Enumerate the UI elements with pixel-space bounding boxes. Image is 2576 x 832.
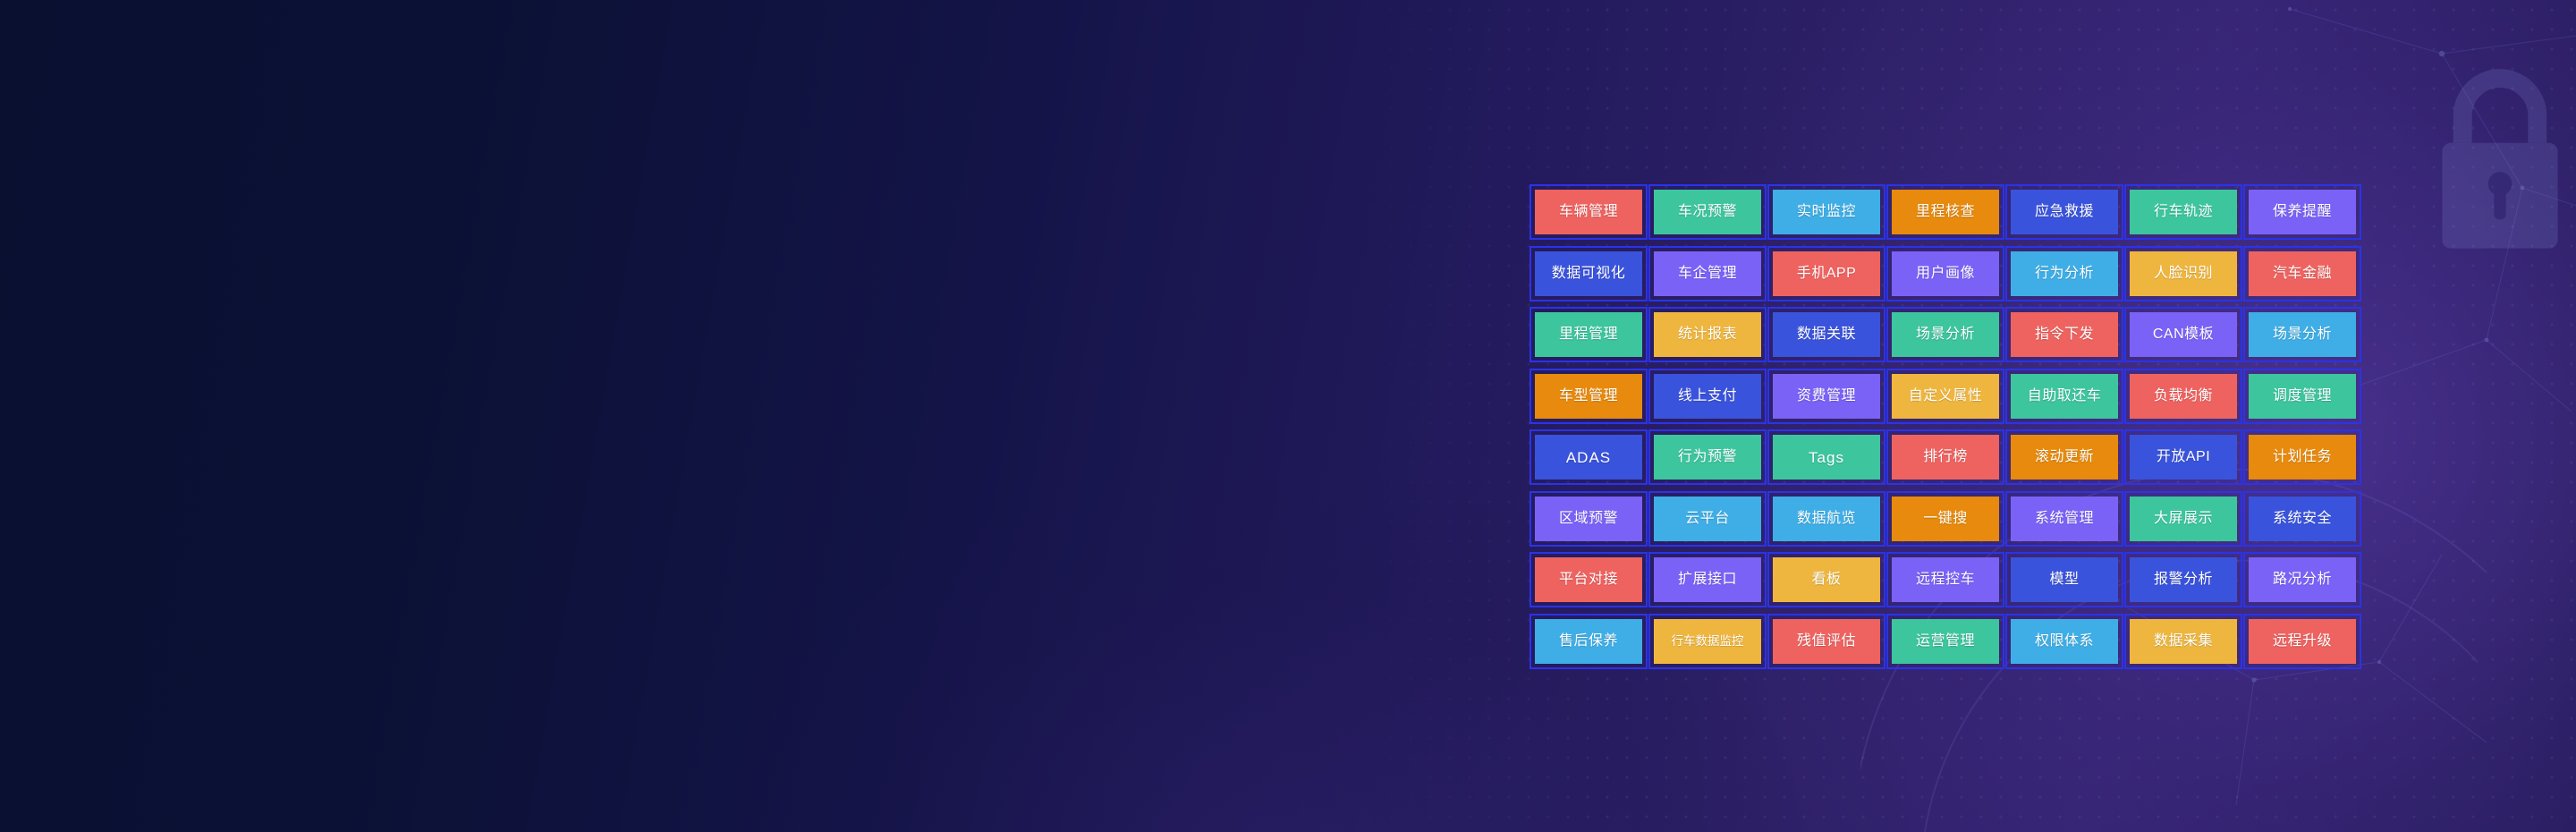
tile-43[interactable]: 平台对接 xyxy=(1535,557,1642,602)
tile-label: 里程核查 xyxy=(1916,205,1975,219)
tile-label: 车型管理 xyxy=(1559,389,1618,403)
tile-label: 人脸识别 xyxy=(2154,267,2213,281)
tile-22[interactable]: 车型管理 xyxy=(1535,374,1642,419)
tile-55[interactable]: 数据采集 xyxy=(2130,619,2237,664)
tile-10[interactable]: 手机APP xyxy=(1773,251,1880,296)
tile-1[interactable]: 车辆管理 xyxy=(1535,190,1642,234)
tile-14[interactable]: 汽车金融 xyxy=(2249,251,2356,296)
tile-11[interactable]: 用户画像 xyxy=(1892,251,1999,296)
tile-label: 手机APP xyxy=(1797,267,1857,281)
tile-7[interactable]: 保养提醒 xyxy=(2249,190,2356,234)
tile-17[interactable]: 数据关联 xyxy=(1773,312,1880,357)
tile-23[interactable]: 线上支付 xyxy=(1654,374,1761,419)
tile-label: 指令下发 xyxy=(2035,327,2094,342)
tile-47[interactable]: 模型 xyxy=(2011,557,2118,602)
tile-33[interactable]: 滚动更新 xyxy=(2011,435,2118,480)
tile-label: 数据采集 xyxy=(2154,634,2213,649)
tile-label: 自助取还车 xyxy=(2028,389,2102,403)
tile-36[interactable]: 区域预警 xyxy=(1535,497,1642,541)
tile-label: 自定义属性 xyxy=(1909,389,1983,403)
tile-label: 车辆管理 xyxy=(1559,205,1618,219)
tile-label: 售后保养 xyxy=(1559,634,1618,649)
tile-52[interactable]: 残值评估 xyxy=(1773,619,1880,664)
feature-tile-grid: 车辆管理车况预警实时监控里程核查应急救援行车轨迹保养提醒数据可视化车企管理手机A… xyxy=(1535,190,2356,664)
tile-label: 行为分析 xyxy=(2035,267,2094,281)
tile-12[interactable]: 行为分析 xyxy=(2011,251,2118,296)
tile-label: 车况预警 xyxy=(1678,205,1737,219)
tile-21[interactable]: 场景分析 xyxy=(2249,312,2356,357)
tile-label: 行车轨迹 xyxy=(2154,205,2213,219)
tile-40[interactable]: 系统管理 xyxy=(2011,497,2118,541)
tile-label: 开放API xyxy=(2157,450,2210,464)
tile-label: 数据关联 xyxy=(1797,327,1856,342)
tile-label: ADAS xyxy=(1566,450,1611,465)
tile-label: 计划任务 xyxy=(2273,450,2332,464)
tile-label: 远程升级 xyxy=(2273,634,2332,649)
tile-56[interactable]: 远程升级 xyxy=(2249,619,2356,664)
tile-51[interactable]: 行车数据监控 xyxy=(1654,619,1761,664)
tile-label: 场景分析 xyxy=(1916,327,1975,342)
tile-44[interactable]: 扩展接口 xyxy=(1654,557,1761,602)
tile-label: 汽车金融 xyxy=(2273,267,2332,281)
tile-38[interactable]: 数据航览 xyxy=(1773,497,1880,541)
tile-label: Tags xyxy=(1809,450,1844,465)
tile-20[interactable]: CAN模板 xyxy=(2130,312,2237,357)
tile-54[interactable]: 权限体系 xyxy=(2011,619,2118,664)
tile-45[interactable]: 看板 xyxy=(1773,557,1880,602)
tile-19[interactable]: 指令下发 xyxy=(2011,312,2118,357)
tile-label: 负载均衡 xyxy=(2154,389,2213,403)
tile-15[interactable]: 里程管理 xyxy=(1535,312,1642,357)
tile-label: 线上支付 xyxy=(1678,389,1737,403)
tile-label: 车企管理 xyxy=(1678,267,1737,281)
tile-27[interactable]: 负载均衡 xyxy=(2130,374,2237,419)
tile-25[interactable]: 自定义属性 xyxy=(1892,374,1999,419)
tile-30[interactable]: 行为预警 xyxy=(1654,435,1761,480)
tile-53[interactable]: 运营管理 xyxy=(1892,619,1999,664)
tile-label: 路况分析 xyxy=(2273,573,2332,587)
tile-29[interactable]: ADAS xyxy=(1535,435,1642,480)
tile-24[interactable]: 资费管理 xyxy=(1773,374,1880,419)
tile-label: 残值评估 xyxy=(1797,634,1856,649)
tile-label: 系统安全 xyxy=(2273,512,2332,526)
tile-28[interactable]: 调度管理 xyxy=(2249,374,2356,419)
tile-label: 行为预警 xyxy=(1678,450,1737,464)
tile-label: 里程管理 xyxy=(1559,327,1618,342)
tile-8[interactable]: 数据可视化 xyxy=(1535,251,1642,296)
tile-32[interactable]: 排行榜 xyxy=(1892,435,1999,480)
tile-label: 模型 xyxy=(2049,573,2079,587)
tile-9[interactable]: 车企管理 xyxy=(1654,251,1761,296)
tile-label: 一键搜 xyxy=(1923,512,1968,526)
tile-label: 排行榜 xyxy=(1923,450,1968,464)
tile-26[interactable]: 自助取还车 xyxy=(2011,374,2118,419)
tile-35[interactable]: 计划任务 xyxy=(2249,435,2356,480)
tile-48[interactable]: 报警分析 xyxy=(2130,557,2237,602)
tile-18[interactable]: 场景分析 xyxy=(1892,312,1999,357)
tile-label: 运营管理 xyxy=(1916,634,1975,649)
tile-34[interactable]: 开放API xyxy=(2130,435,2237,480)
tile-label: 系统管理 xyxy=(2035,512,2094,526)
tile-13[interactable]: 人脸识别 xyxy=(2130,251,2237,296)
tile-label: 看板 xyxy=(1811,573,1841,587)
tile-16[interactable]: 统计报表 xyxy=(1654,312,1761,357)
tile-label: 实时监控 xyxy=(1797,205,1856,219)
tile-label: 云平台 xyxy=(1685,512,1730,526)
tile-46[interactable]: 远程控车 xyxy=(1892,557,1999,602)
tile-31[interactable]: Tags xyxy=(1773,435,1880,480)
tile-label: 远程控车 xyxy=(1916,573,1975,587)
tile-5[interactable]: 应急救援 xyxy=(2011,190,2118,234)
tile-label: 场景分析 xyxy=(2273,327,2332,342)
tile-42[interactable]: 系统安全 xyxy=(2249,497,2356,541)
tile-3[interactable]: 实时监控 xyxy=(1773,190,1880,234)
tile-2[interactable]: 车况预警 xyxy=(1654,190,1761,234)
tile-label: 报警分析 xyxy=(2154,573,2213,587)
tile-label: 用户画像 xyxy=(1916,267,1975,281)
tile-label: 应急救援 xyxy=(2035,205,2094,219)
tile-50[interactable]: 售后保养 xyxy=(1535,619,1642,664)
tile-label: 保养提醒 xyxy=(2273,205,2332,219)
tile-39[interactable]: 一键搜 xyxy=(1892,497,1999,541)
tile-label: 权限体系 xyxy=(2035,634,2094,649)
tile-label: 调度管理 xyxy=(2273,389,2332,403)
lock-icon xyxy=(2415,54,2576,259)
tile-37[interactable]: 云平台 xyxy=(1654,497,1761,541)
tile-label: 大屏展示 xyxy=(2154,512,2213,526)
tile-label: 区域预警 xyxy=(1559,512,1618,526)
tile-6[interactable]: 行车轨迹 xyxy=(2130,190,2237,234)
page-stage: 车辆管理车况预警实时监控里程核查应急救援行车轨迹保养提醒数据可视化车企管理手机A… xyxy=(0,0,2576,832)
tile-label: 统计报表 xyxy=(1678,327,1737,342)
tile-label: 数据可视化 xyxy=(1552,267,1626,281)
tile-41[interactable]: 大屏展示 xyxy=(2130,497,2237,541)
tile-label: 扩展接口 xyxy=(1678,573,1737,587)
tile-49[interactable]: 路况分析 xyxy=(2249,557,2356,602)
tile-label: 数据航览 xyxy=(1797,512,1856,526)
tile-label: 平台对接 xyxy=(1559,573,1618,587)
tile-label: 行车数据监控 xyxy=(1672,635,1744,648)
tile-label: 资费管理 xyxy=(1797,389,1856,403)
tile-label: 滚动更新 xyxy=(2035,450,2094,464)
tile-label: CAN模板 xyxy=(2153,327,2214,342)
tile-4[interactable]: 里程核查 xyxy=(1892,190,1999,234)
